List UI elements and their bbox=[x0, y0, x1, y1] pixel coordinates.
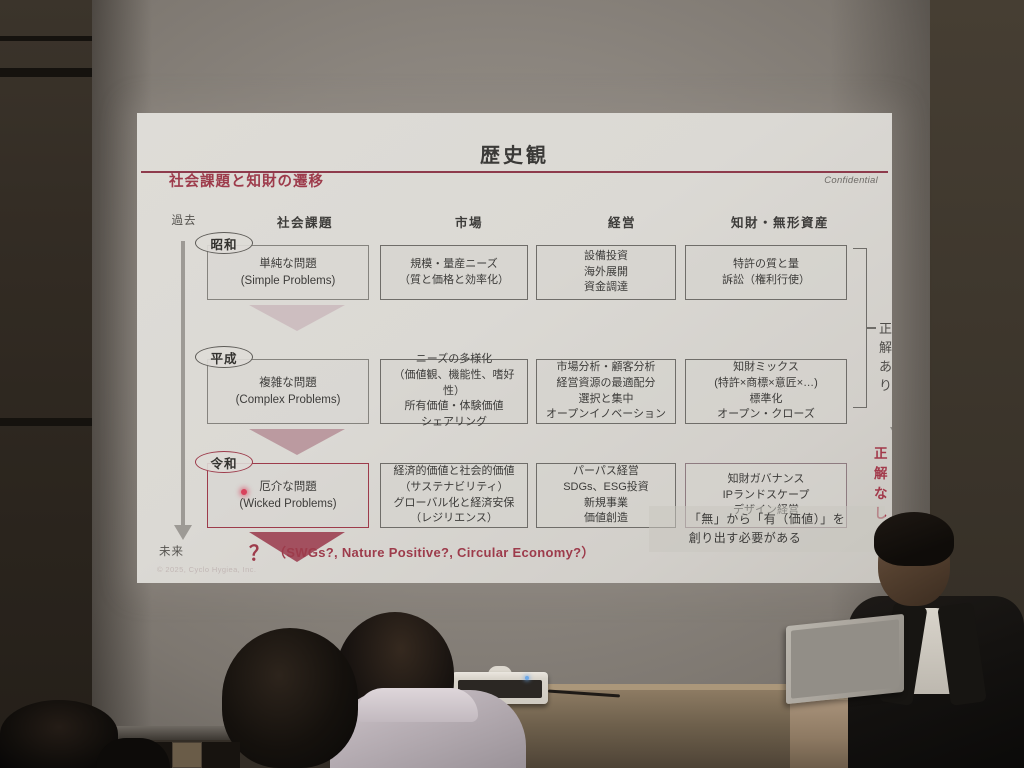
question-mark: ？ bbox=[249, 537, 269, 566]
copyright-notice: © 2025, Cyclo Hygiea, Inc. bbox=[157, 565, 256, 574]
note-text: 「無」から「有（価値）」を創り出す必要がある bbox=[689, 510, 846, 547]
confidential-label: Confidential bbox=[824, 175, 878, 186]
wall-band bbox=[0, 68, 92, 77]
left-wall bbox=[0, 0, 92, 768]
cell-ip: 特許の質と量訴訟（権利行使） bbox=[685, 245, 847, 300]
laser-pointer-dot bbox=[241, 489, 247, 495]
cell-management: 市場分析・顧客分析経営資源の最適配分選択と集中オープンイノベーション bbox=[536, 359, 676, 424]
presenter-hair bbox=[874, 512, 954, 566]
slide-subtitle: 社会課題と知財の遷移 bbox=[169, 170, 324, 191]
cell-issues: 複雑な問題(Complex Problems) bbox=[207, 359, 369, 424]
column-header-axis: 過去 bbox=[155, 212, 213, 228]
lecture-room-photo: 歴史観 Confidential 社会課題と知財の遷移 過去 社会課題 市場 経… bbox=[0, 0, 1024, 768]
column-header-ip: 知財・無形資産 bbox=[699, 212, 861, 231]
column-header-issues: 社会課題 bbox=[225, 212, 385, 231]
cell-market: 規模・量産ニーズ（質と価格と効率化） bbox=[380, 245, 528, 300]
column-header-management: 経営 bbox=[551, 212, 693, 231]
slide-title: 歴史観 bbox=[137, 139, 892, 168]
cell-market: 経済的価値と社会的価値（サステナビリティ）グローバル化と経済安保（レジリエンス） bbox=[380, 463, 528, 528]
answer-arrow-head bbox=[890, 427, 892, 441]
timeline-arrow-shaft bbox=[181, 241, 185, 529]
era-pill-showa: 昭和 bbox=[195, 232, 253, 254]
column-header-market: 市場 bbox=[395, 212, 543, 231]
cell-management: 設備投資海外展開資金調達 bbox=[536, 245, 676, 300]
transition-chevron bbox=[249, 429, 345, 455]
cell-ip: 知財ミックス(特許×商標×意匠×…)標準化オープン・クローズ bbox=[685, 359, 847, 424]
timeline-future-label: 未来 bbox=[159, 543, 184, 559]
cell-issues: 厄介な問題(Wicked Problems) bbox=[207, 463, 369, 528]
column-headers: 過去 社会課題 市場 経営 知財・無形資産 bbox=[137, 212, 892, 230]
timeline-arrow-head bbox=[174, 525, 192, 540]
projected-slide: 歴史観 Confidential 社会課題と知財の遷移 過去 社会課題 市場 経… bbox=[137, 113, 892, 583]
audience-hoodie-collar bbox=[356, 688, 478, 722]
era-pill-reiwa: 令和 bbox=[195, 451, 253, 473]
speaker-status-led bbox=[525, 676, 529, 680]
answer-bracket-tick bbox=[867, 327, 876, 329]
audience-head bbox=[222, 628, 358, 768]
transition-chevron bbox=[249, 305, 345, 331]
question-text: （SWGs?, Nature Positive?, Circular Econo… bbox=[273, 542, 595, 561]
answer-exists-label: 正解あり bbox=[879, 318, 892, 394]
cell-market: ニーズの多様化（価値観、機能性、嗜好性）所有価値・体験価値シェアリング bbox=[380, 359, 528, 424]
laptop-screen bbox=[791, 619, 899, 698]
laptop bbox=[786, 614, 904, 704]
wall-band bbox=[0, 418, 92, 426]
era-pill-heisei: 平成 bbox=[195, 346, 253, 368]
wall-band bbox=[0, 36, 92, 41]
answer-bracket bbox=[853, 248, 867, 408]
foreground-object bbox=[172, 742, 202, 768]
